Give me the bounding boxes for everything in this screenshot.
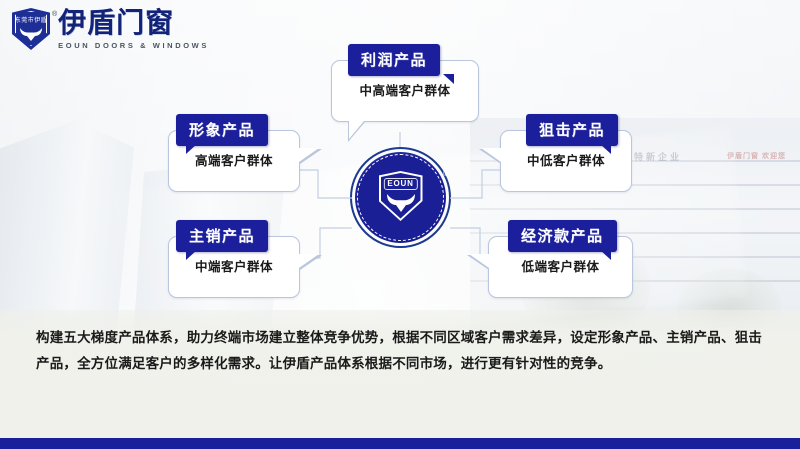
callout-profit-product[interactable]: 中高端客户群体 利润产品 bbox=[331, 60, 479, 122]
slide-canvas: 特新企业 伊盾门窗 欢迎您 东莞市伊盾 ® 伊盾门窗 EOUN DOORS & … bbox=[0, 0, 800, 449]
callout-image-product-header[interactable]: 形象产品 bbox=[176, 114, 268, 146]
description-text: 构建五大梯度产品体系，助力终端市场建立整体竞争优势，根据不同区域客户需求差异，设… bbox=[36, 325, 772, 377]
callout-image-product[interactable]: 高端客户群体 形象产品 bbox=[168, 130, 300, 192]
emblem-bull-head-icon bbox=[386, 193, 416, 213]
emblem-wordmark: EOUN bbox=[383, 178, 417, 190]
callout-economy-product[interactable]: 低端客户群体 经济款产品 bbox=[488, 236, 633, 298]
callout-sniper-product[interactable]: 中低客户群体 狙击产品 bbox=[500, 130, 632, 192]
emblem-shield-icon: EOUN bbox=[379, 171, 423, 221]
callout-profit-product-header[interactable]: 利润产品 bbox=[348, 44, 440, 76]
bottom-accent-bar bbox=[0, 438, 800, 449]
callout-main-product[interactable]: 中端客户群体 主销产品 bbox=[168, 236, 300, 298]
callout-sniper-product-header[interactable]: 狙击产品 bbox=[526, 114, 618, 146]
callout-economy-product-header[interactable]: 经济款产品 bbox=[508, 220, 617, 252]
callout-main-product-header[interactable]: 主销产品 bbox=[176, 220, 268, 252]
emblem-registered-mark: ® bbox=[443, 169, 449, 178]
description-panel: 构建五大梯度产品体系，助力终端市场建立整体竞争优势，根据不同区域客户需求差异，设… bbox=[0, 310, 800, 438]
